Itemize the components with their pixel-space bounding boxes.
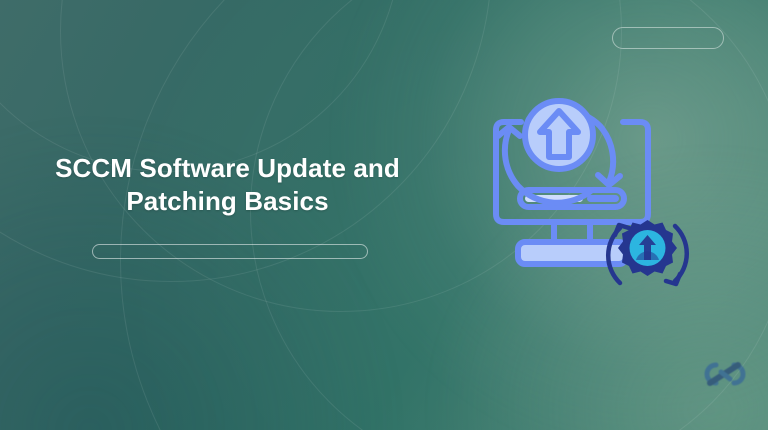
brand-logo-watermark [694,357,756,405]
top-right-pill-decoration [612,27,724,49]
title-line-2: Patching Basics [0,185,455,218]
upload-arrow-circle-icon [525,101,593,169]
software-update-illustration [484,78,702,293]
title-line-1: SCCM Software Update and [0,152,455,185]
page-title: SCCM Software Update and Patching Basics [0,152,455,218]
title-underline-pill [92,244,368,259]
banner-canvas: SCCM Software Update and Patching Basics [0,0,768,430]
